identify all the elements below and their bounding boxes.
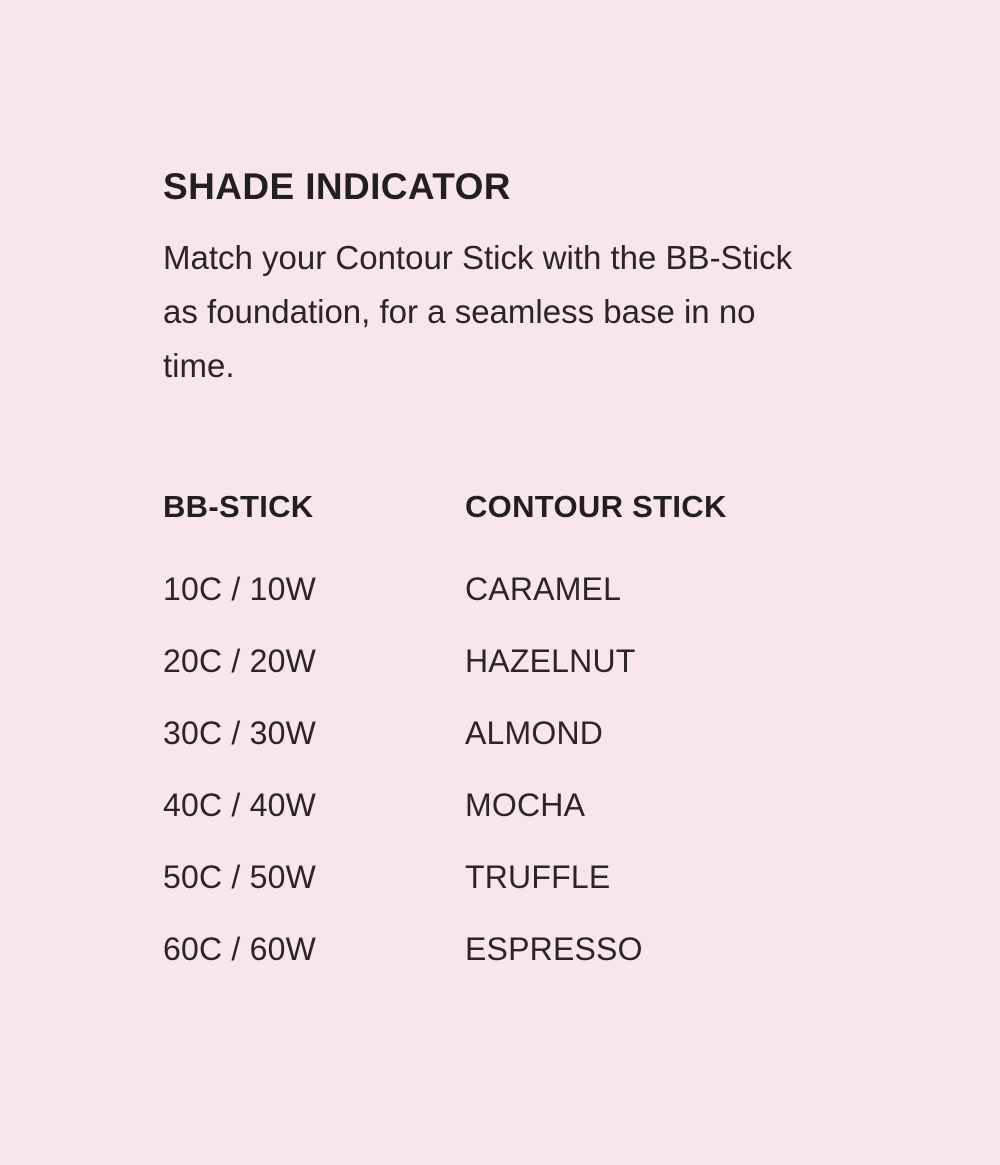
table-header-row: BB-STICK CONTOUR STICK bbox=[163, 489, 727, 571]
shade-indicator-panel: SHADE INDICATOR Match your Contour Stick… bbox=[163, 168, 883, 967]
cell-contour-stick: HAZELNUT bbox=[465, 643, 727, 715]
table-row: 20C / 20W HAZELNUT bbox=[163, 643, 727, 715]
cell-bb-stick: 50C / 50W bbox=[163, 859, 465, 931]
table-row: 60C / 60W ESPRESSO bbox=[163, 931, 727, 967]
cell-contour-stick: TRUFFLE bbox=[465, 859, 727, 931]
cell-contour-stick: ALMOND bbox=[465, 715, 727, 787]
cell-contour-stick: MOCHA bbox=[465, 787, 727, 859]
page-title: SHADE INDICATOR bbox=[163, 168, 883, 205]
cell-bb-stick: 20C / 20W bbox=[163, 643, 465, 715]
cell-bb-stick: 60C / 60W bbox=[163, 931, 465, 967]
table-header: BB-STICK CONTOUR STICK bbox=[163, 489, 727, 571]
column-header-bb-stick: BB-STICK bbox=[163, 489, 465, 571]
cell-contour-stick: CARAMEL bbox=[465, 571, 727, 643]
table-body: 10C / 10W CARAMEL 20C / 20W HAZELNUT 30C… bbox=[163, 571, 727, 967]
table-row: 40C / 40W MOCHA bbox=[163, 787, 727, 859]
table-row: 50C / 50W TRUFFLE bbox=[163, 859, 727, 931]
cell-bb-stick: 40C / 40W bbox=[163, 787, 465, 859]
cell-bb-stick: 30C / 30W bbox=[163, 715, 465, 787]
table-row: 30C / 30W ALMOND bbox=[163, 715, 727, 787]
panel-description: Match your Contour Stick with the BB-Sti… bbox=[163, 231, 803, 393]
cell-bb-stick: 10C / 10W bbox=[163, 571, 465, 643]
cell-contour-stick: ESPRESSO bbox=[465, 931, 727, 967]
column-header-contour-stick: CONTOUR STICK bbox=[465, 489, 727, 571]
shade-match-table: BB-STICK CONTOUR STICK 10C / 10W CARAMEL… bbox=[163, 489, 727, 967]
table-row: 10C / 10W CARAMEL bbox=[163, 571, 727, 643]
